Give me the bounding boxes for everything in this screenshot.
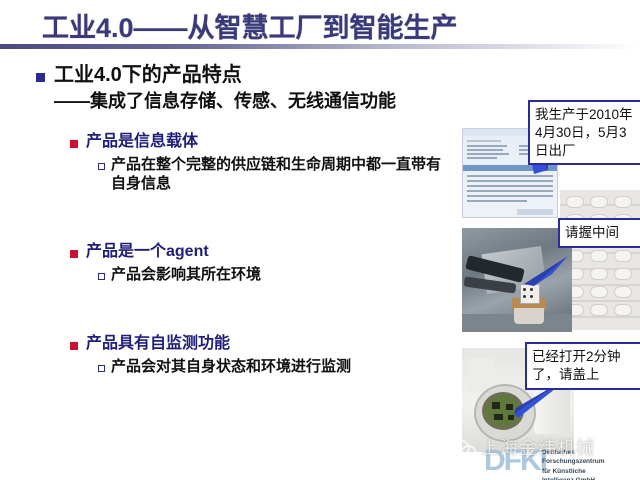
wechat-icon: [452, 438, 476, 456]
callout-2-text: 请握中间: [560, 220, 640, 246]
slide-title-block: 工业4.0——从智慧工厂到智能生产: [0, 4, 640, 50]
level1-heading-row: 工业4.0下的产品特点: [36, 64, 466, 88]
callout-close-lid[interactable]: 已经打开2分钟了，请盖上: [525, 342, 640, 390]
group2-heading: 产品是一个agent: [86, 242, 209, 261]
level1-subheading: ——集成了信息存储、传感、无线通信功能: [54, 91, 466, 113]
red-square-bullet-icon: [70, 342, 78, 350]
group1-heading: 产品是信息载体: [86, 132, 198, 151]
photo-robot-gripper: [462, 228, 572, 332]
level1-block: 工业4.0下的产品特点 ——集成了信息存储、传感、无线通信功能: [36, 64, 466, 112]
group1-point-1-text: 产品在整个完整的供应链和生命周期中都一直带有自身信息: [111, 156, 441, 194]
wechat-watermark: 上海金纬机械: [452, 434, 640, 460]
watermark-label: 上海金纬机械: [481, 434, 595, 460]
photo-blister-pack: [560, 190, 640, 330]
title-underline-rule: [0, 44, 640, 49]
hollow-square-bullet-icon: [98, 163, 105, 170]
group3-point-1-text: 产品会对其自身状态和环境进行监测: [111, 358, 351, 377]
level1-heading: 工业4.0下的产品特点: [54, 64, 242, 88]
group2-heading-row: 产品是一个agent: [70, 242, 470, 261]
slide-canvas: 工业4.0——从智慧工厂到智能生产 工业4.0下的产品特点 ——集成了信息存储、…: [0, 0, 640, 480]
callout-grip-middle[interactable]: 请握中间: [558, 218, 640, 248]
red-square-bullet-icon: [70, 250, 78, 258]
group3-heading: 产品具有自监测功能: [86, 334, 230, 353]
group3-point-1: 产品会对其自身状态和环境进行监测: [98, 358, 480, 377]
hollow-square-bullet-icon: [98, 273, 105, 280]
callout-3-text: 已经打开2分钟了，请盖上: [527, 344, 640, 388]
bullet-group-1: 产品是信息载体 产品在整个完整的供应链和生命周期中都一直带有自身信息: [70, 132, 470, 194]
red-square-bullet-icon: [70, 140, 78, 148]
group2-point-1-text: 产品会影响其所在环境: [111, 266, 261, 285]
bullet-group-3: 产品具有自监测功能 产品会对其自身状态和环境进行监测: [70, 334, 480, 377]
hollow-square-bullet-icon: [98, 365, 105, 372]
group1-point-1: 产品在整个完整的供应链和生命周期中都一直带有自身信息: [98, 156, 470, 194]
page-title: 工业4.0——从智慧工厂到智能生产: [42, 6, 458, 45]
callout-1-text: 我生产于2010年4月30日，5月3日出厂: [530, 102, 640, 163]
square-bullet-icon: [36, 73, 45, 82]
group2-point-1: 产品会影响其所在环境: [98, 266, 470, 285]
group1-heading-row: 产品是信息载体: [70, 132, 470, 151]
dfki-line-3: für Künstliche: [542, 467, 604, 476]
callout-production-date[interactable]: 我生产于2010年4月30日，5月3日出厂: [528, 100, 640, 165]
group3-heading-row: 产品具有自监测功能: [70, 334, 480, 353]
dfki-line-4: Intelligenz GmbH: [542, 476, 604, 480]
bullet-group-2: 产品是一个agent 产品会影响其所在环境: [70, 242, 470, 285]
